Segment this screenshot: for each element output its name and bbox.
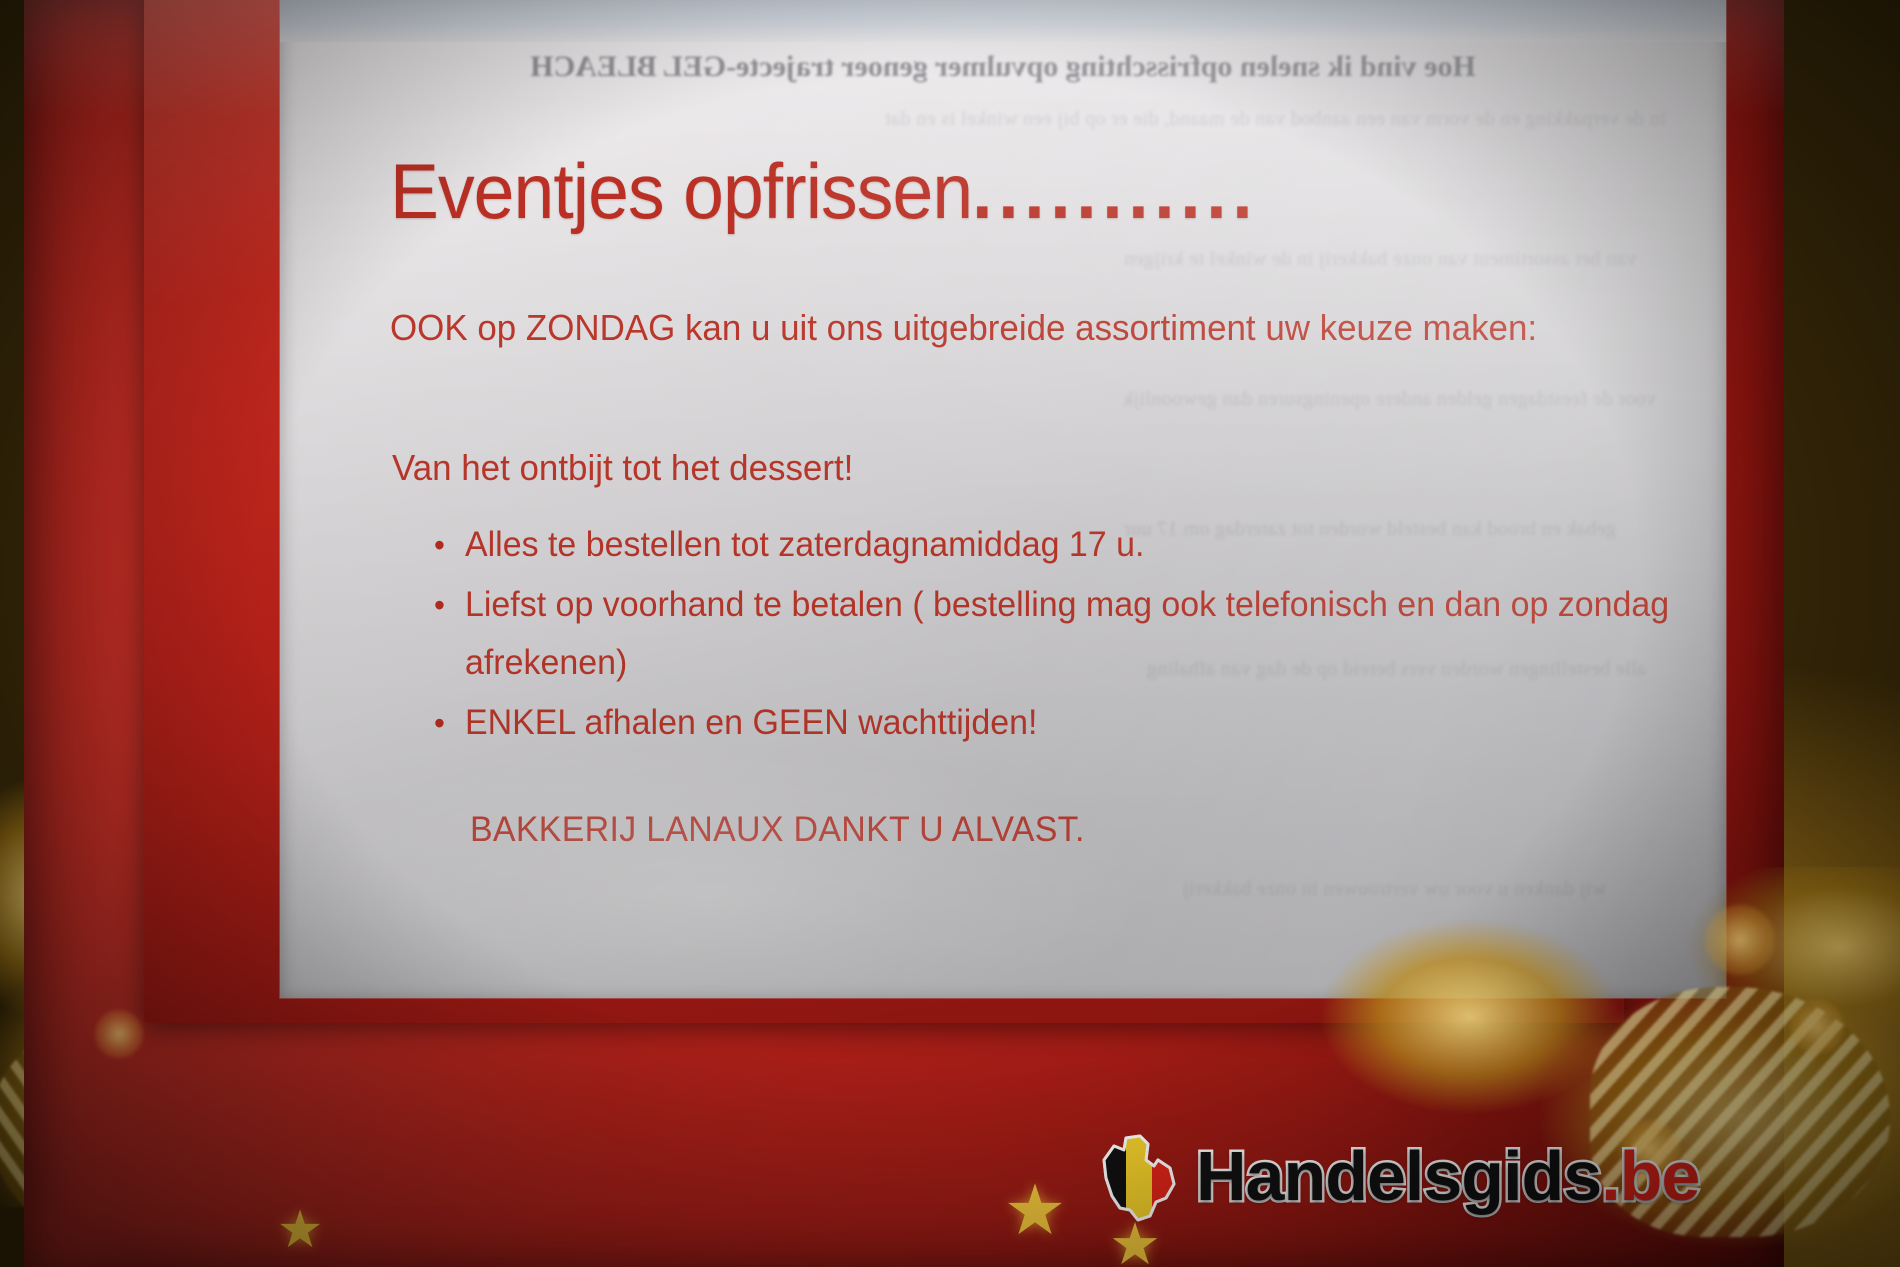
- sign-content: Eventjes opfrissen........... OOK op ZON…: [280, 0, 1726, 998]
- paper-top-band: [280, 0, 1726, 42]
- list-item: • Liefst op voorhand te betalen ( bestel…: [432, 576, 1683, 692]
- bullet-dot-icon: •: [434, 576, 445, 634]
- paper-glare: [280, 0, 1726, 998]
- list-item: • Alles te bestellen tot zaterdagnamidda…: [432, 516, 1683, 574]
- sign-subheading: Van het ontbijt tot het dessert!: [392, 438, 1459, 498]
- bullet-dot-icon: •: [434, 694, 445, 752]
- ghost-line: wij danken u voor uw vertrouwen in onze …: [1182, 878, 1606, 901]
- paper-sign: Hoe vind ik snelen opfrisschting opvulme…: [280, 0, 1726, 998]
- sign-signature: BAKKERIJ LANAUX DANKT U ALVAST.: [470, 810, 1085, 850]
- ghost-line: alle bestellingen worden vers bereid op …: [1146, 658, 1646, 681]
- sign-bullet-list: • Alles te bestellen tot zaterdagnamidda…: [432, 516, 1683, 754]
- ghost-line: gebak en brood kan besteld worden tot za…: [1124, 518, 1616, 541]
- photo-scene: Hoe vind ik snelen opfrisschting opvulme…: [0, 0, 1900, 1267]
- sign-title-dots: ...........: [972, 147, 1258, 235]
- list-item: • ENKEL afhalen en GEEN wachttijden!: [432, 694, 1683, 752]
- star-glyph: ★: [277, 1204, 324, 1256]
- watermark-name: Handelsgids: [1196, 1137, 1601, 1215]
- ghost-text-block: in de verpakking en de vorm van een aanb…: [280, 0, 1726, 998]
- ghost-line: in de verpakking en de vorm van een aanb…: [885, 108, 1666, 131]
- sign-title-text: Eventjes opfrissen: [390, 147, 972, 235]
- star-glyph: ★: [1004, 1175, 1067, 1245]
- belgium-map-icon: [1096, 1130, 1182, 1222]
- list-item-label: Liefst op voorhand te betalen ( bestelli…: [465, 585, 1669, 682]
- bokeh-light: [1790, 1000, 1844, 1054]
- watermark: Handelsgids.be: [1096, 1128, 1699, 1224]
- sign-frame-outer: Hoe vind ik snelen opfrisschting opvulme…: [24, 0, 1784, 1267]
- bokeh-light: [95, 1010, 143, 1058]
- list-item-label: Alles te bestellen tot zaterdagnamiddag …: [465, 525, 1144, 564]
- ghost-line: van het assortiment van onze bakkerij in…: [1124, 248, 1636, 271]
- sign-intro-paragraph: OOK op ZONDAG kan u uit ons uitgebreide …: [390, 298, 1564, 358]
- ghost-line: voor de feestdagen gelden andere opening…: [1123, 388, 1656, 411]
- ghost-heading: Hoe vind ik snelen opfrisschting opvulme…: [280, 50, 1726, 84]
- watermark-text: Handelsgids.be: [1196, 1140, 1699, 1212]
- bullet-dot-icon: •: [434, 516, 445, 574]
- sign-title: Eventjes opfrissen...........: [390, 146, 1258, 237]
- sign-frame-bevel: Hoe vind ik snelen opfrisschting opvulme…: [144, 0, 1624, 1023]
- list-item-label: ENKEL afhalen en GEEN wachttijden!: [465, 703, 1037, 742]
- watermark-domain: .be: [1601, 1137, 1699, 1215]
- bokeh-light: [1705, 905, 1775, 975]
